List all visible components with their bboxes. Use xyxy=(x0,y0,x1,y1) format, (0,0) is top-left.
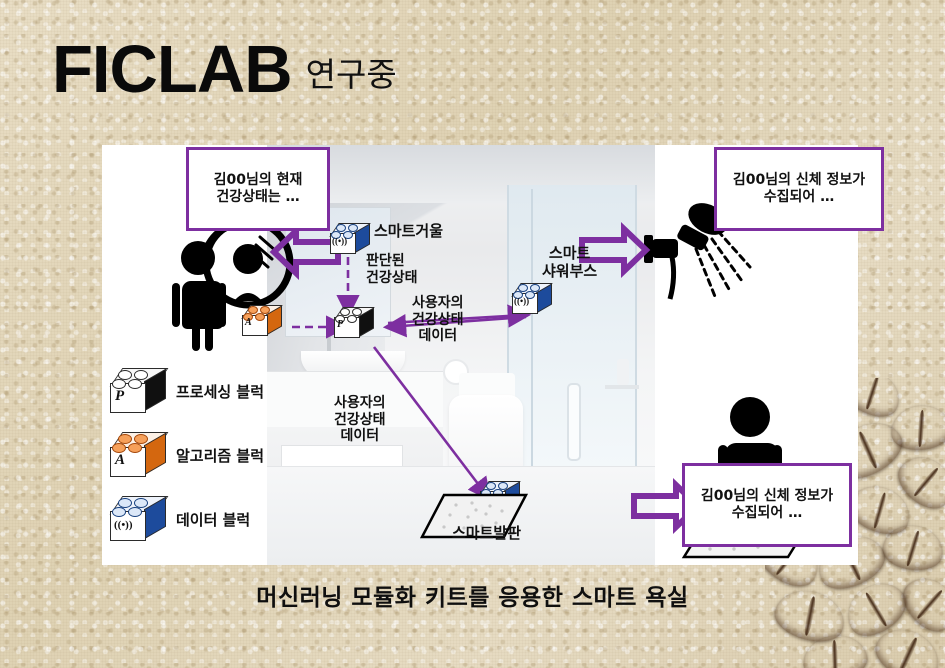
bubble-shower-collect-text: 김00님의 신체 정보가 수집되어 … xyxy=(733,172,865,206)
bubble-mat-collect: 김00님의 신체 정보가 수집되어 … xyxy=(682,463,852,547)
diagram-panel: P 프로세싱 블럭 A 알고리즘 블럭 xyxy=(102,145,858,565)
label-smart-mirror: 스마트거울 xyxy=(374,223,443,241)
smart-mirror-block-mark: ((•)) xyxy=(332,236,347,246)
label-user-health-data-bottom: 사용자의 건강상태 데이터 xyxy=(334,395,386,445)
algorithm-block-icon: A xyxy=(242,305,282,337)
smart-shower-block-mark: ((•)) xyxy=(514,296,529,306)
label-user-health-data-right: 사용자의 건강상태 데이터 xyxy=(412,295,464,345)
bubble-mirror-status: 김00님의 현재 건강상태는 … xyxy=(186,147,330,231)
bubble-mirror-status-text: 김00님의 현재 건강상태는 … xyxy=(214,172,303,206)
smart-shower-block-icon: ((•)) xyxy=(512,283,552,315)
algorithm-block-mark: A xyxy=(245,317,252,328)
slide-title: FICLAB 연구중 xyxy=(52,38,397,102)
title-sub-text: 연구중 xyxy=(306,48,397,102)
label-judged-health-state: 판단된 건강상태 xyxy=(366,253,418,286)
smart-mirror-block-icon: ((•)) xyxy=(330,223,370,255)
processing-block-mark: P xyxy=(337,319,343,330)
label-smart-shower-booth: 스마트 샤워부스 xyxy=(542,245,597,280)
bubble-shower-collect: 김00님의 신체 정보가 수집되어 … xyxy=(714,147,884,231)
title-main-text: FICLAB xyxy=(52,38,292,102)
processing-block-icon: P xyxy=(334,307,374,339)
label-smart-foot-plate: 스마트발판 xyxy=(452,525,521,543)
slide-caption: 머신러닝 모듈화 키트를 응용한 스마트 욕실 xyxy=(0,578,945,612)
